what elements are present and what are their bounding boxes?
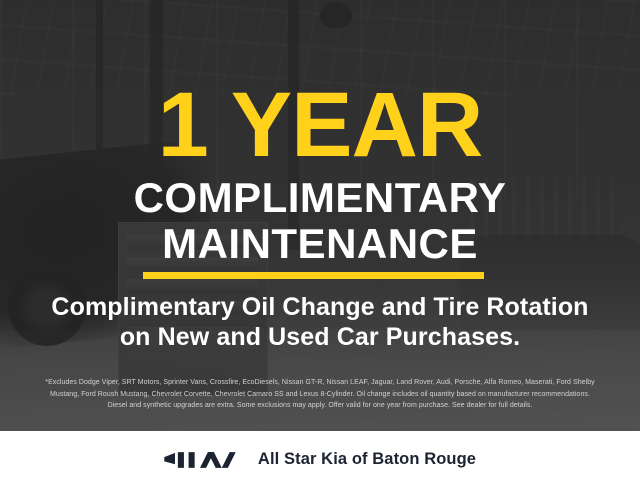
kia-logo	[164, 450, 236, 470]
headline-year: 1 YEAR	[0, 77, 640, 173]
offer-description-line-1: Complimentary Oil Change and Tire Rotati…	[0, 292, 640, 322]
footer-brand-bar: All Star Kia of Baton Rouge	[0, 431, 640, 488]
headline-maintenance: MAINTENANCE	[0, 222, 640, 266]
offer-description-line-2: on New and Used Car Purchases.	[0, 322, 640, 352]
promotional-banner: 1 YEAR COMPLIMENTARY MAINTENANCE Complim…	[0, 0, 640, 488]
dealer-name: All Star Kia of Baton Rouge	[258, 450, 476, 469]
disclaimer-line-1: *Excludes Dodge Viper, SRT Motors, Sprin…	[14, 377, 626, 389]
banner-content: 1 YEAR COMPLIMENTARY MAINTENANCE Complim…	[0, 0, 640, 431]
disclaimer-line-3: Diesel and synthetic upgrades are extra.…	[14, 400, 626, 412]
headline-complimentary: COMPLIMENTARY	[0, 176, 640, 220]
disclaimer-line-2: Mustang, Ford Roush Mustang, Chevrolet C…	[14, 389, 626, 401]
yellow-divider-bar	[143, 272, 484, 279]
